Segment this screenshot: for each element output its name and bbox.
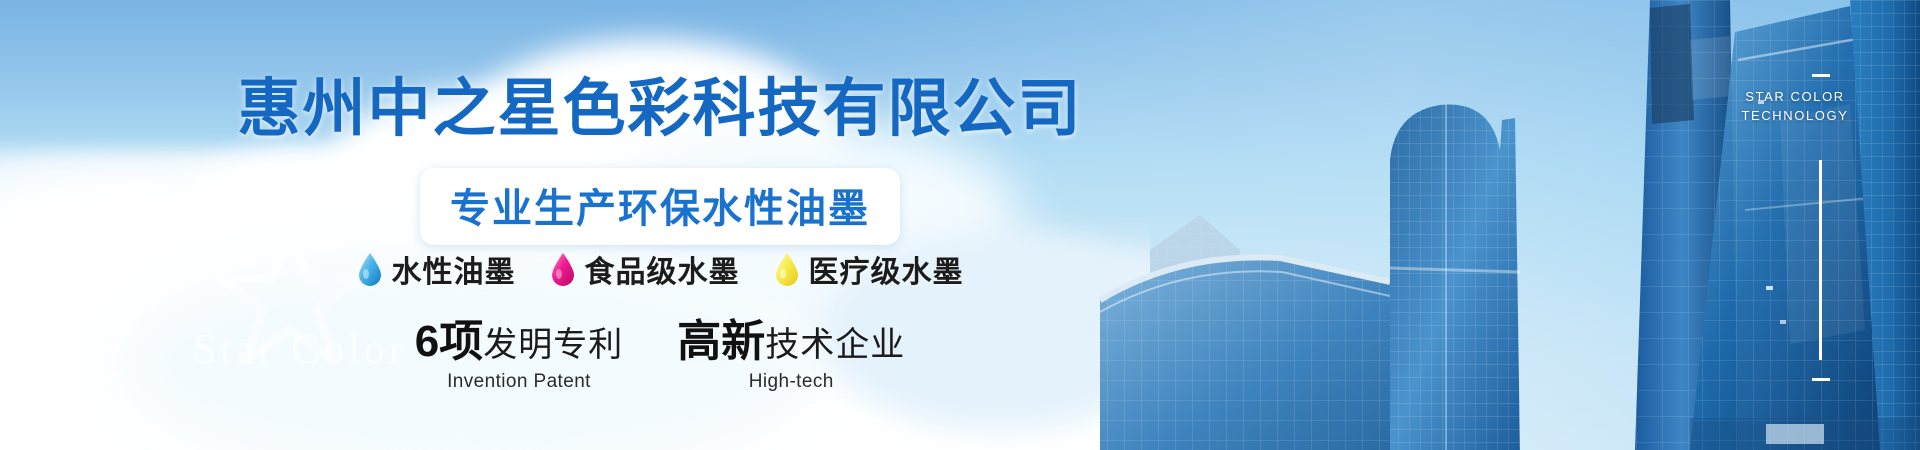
water-drop-icon: [550, 252, 576, 286]
subtitle-container: 专业生产环保水性油墨: [0, 168, 1320, 245]
badge-chinese-line: 高新技术企业: [677, 320, 905, 364]
brand-line-2: TECHNOLOGY: [1725, 107, 1865, 126]
badge-english-line: High-tech: [677, 371, 905, 393]
feature-label: 水性油墨: [392, 247, 516, 291]
company-hero-banner: Star Color: [0, 0, 1920, 450]
feature-item-medical-grade-ink: 医疗级水墨: [774, 247, 964, 291]
feature-label: 医疗级水墨: [809, 247, 964, 291]
banner-content: 惠州中之星色彩科技有限公司 专业生产环保水性油墨 水性油墨: [0, 0, 1320, 450]
brand-tick-top: [1812, 74, 1830, 77]
feature-label: 食品级水墨: [585, 247, 740, 291]
feature-item-water-based-ink: 水性油墨: [357, 247, 516, 291]
water-drop-icon: [357, 252, 383, 286]
badge-chinese-line: 6项发明专利: [415, 320, 623, 364]
credential-badges: 6项发明专利 Invention Patent 高新技术企业 High-tech: [0, 320, 1320, 393]
badge-english-line: Invention Patent: [415, 371, 623, 393]
feature-item-food-grade-ink: 食品级水墨: [550, 247, 740, 291]
badge-detail: 技术企业: [765, 326, 905, 364]
badge-highlight: 高新: [677, 317, 765, 366]
brand-line-1: STAR COLOR: [1725, 88, 1865, 107]
feature-list: 水性油墨 食品级水墨: [0, 247, 1320, 291]
subtitle-pill: 专业生产环保水性油墨: [420, 168, 900, 245]
water-drop-icon: [774, 252, 800, 286]
brand-tick-bottom: [1812, 378, 1830, 381]
badge-invention-patent: 6项发明专利 Invention Patent: [415, 320, 623, 393]
brand-lockup: STAR COLOR TECHNOLOGY: [1725, 88, 1865, 126]
brand-vertical-rule: [1819, 160, 1822, 360]
page-title: 惠州中之星色彩科技有限公司: [0, 58, 1320, 149]
badge-highlight: 6项: [415, 317, 483, 366]
badge-high-tech: 高新技术企业 High-tech: [677, 320, 905, 393]
badge-detail: 发明专利: [483, 326, 623, 364]
